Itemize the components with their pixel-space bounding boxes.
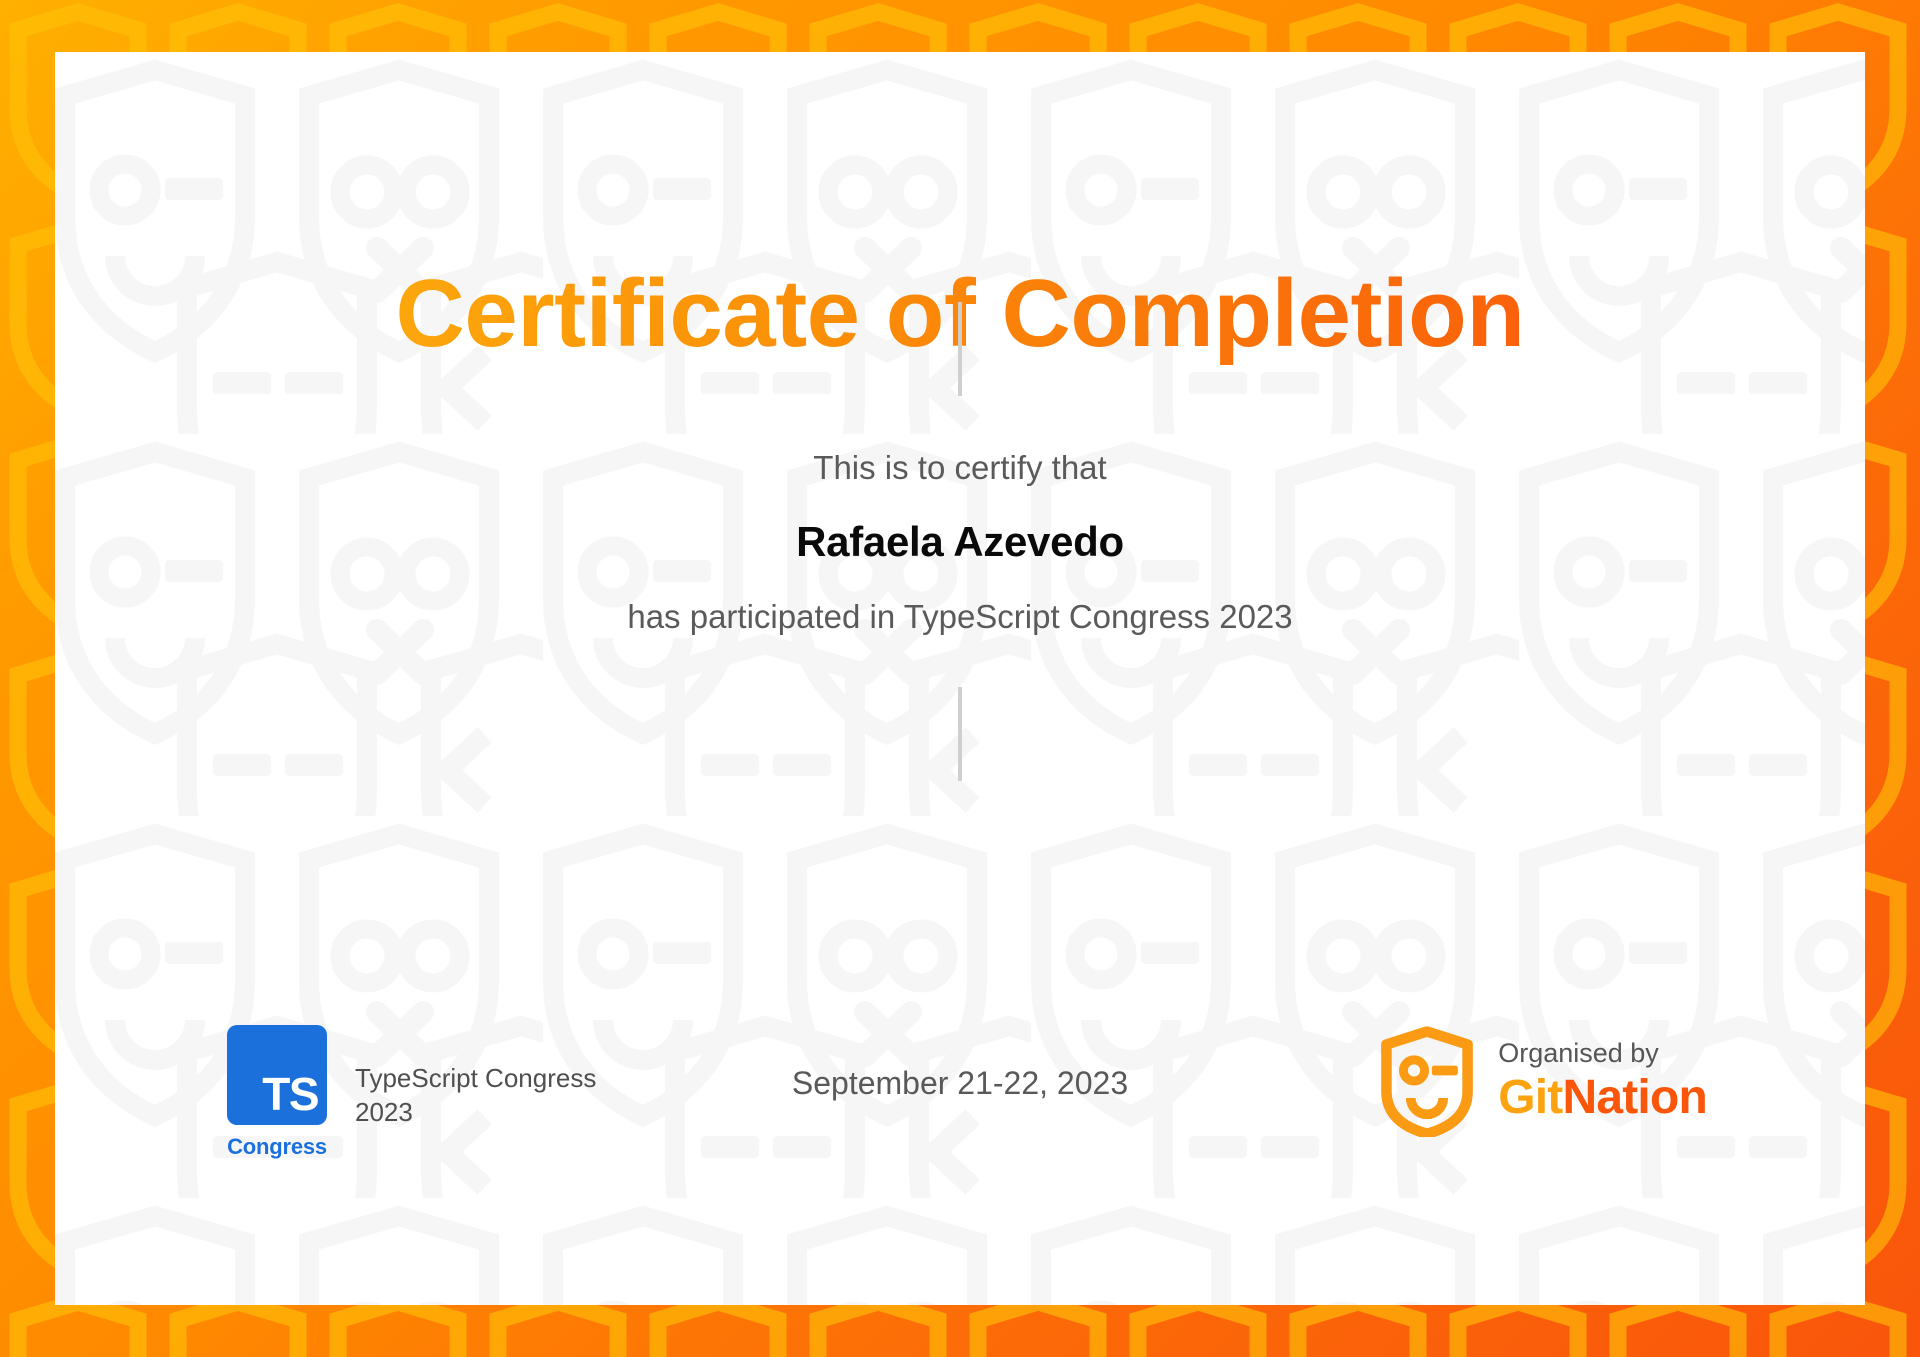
event-name: TypeScript Congress 2023: [355, 1025, 655, 1130]
divider-top: [958, 302, 962, 396]
certificate-page: Certificate of Completion This is to cer…: [0, 0, 1920, 1357]
gitnation-wordmark-git: Git: [1498, 1071, 1562, 1124]
typescript-congress-logo: TS Congress: [225, 1025, 329, 1158]
divider-bottom: [958, 687, 962, 781]
gitnation-shield-icon: [1378, 1025, 1476, 1137]
event-branding: TS Congress TypeScript Congress 2023: [225, 1025, 655, 1158]
event-date: September 21-22, 2023: [792, 1065, 1128, 1102]
recipient-name: Rafaela Azevedo: [55, 516, 1865, 569]
organiser-text: Organised by GitNation: [1498, 1037, 1707, 1124]
organised-by-label: Organised by: [1498, 1037, 1707, 1069]
participation-line: has participated in TypeScript Congress …: [55, 596, 1865, 639]
certificate-card: Certificate of Completion This is to cer…: [55, 52, 1865, 1305]
typescript-mark-subtitle: Congress: [227, 1136, 327, 1158]
certificate-body: This is to certify that Rafaela Azevedo …: [55, 447, 1865, 639]
gitnation-wordmark-nation: Nation: [1562, 1071, 1707, 1124]
certify-line: This is to certify that: [55, 447, 1865, 490]
typescript-mark-label: TS: [262, 1071, 318, 1117]
organiser-branding: Organised by GitNation: [1378, 1025, 1707, 1137]
gitnation-wordmark: GitNation: [1498, 1072, 1707, 1125]
typescript-mark-icon: TS: [227, 1025, 327, 1125]
certificate-footer: TS Congress TypeScript Congress 2023 Sep…: [55, 1025, 1865, 1165]
